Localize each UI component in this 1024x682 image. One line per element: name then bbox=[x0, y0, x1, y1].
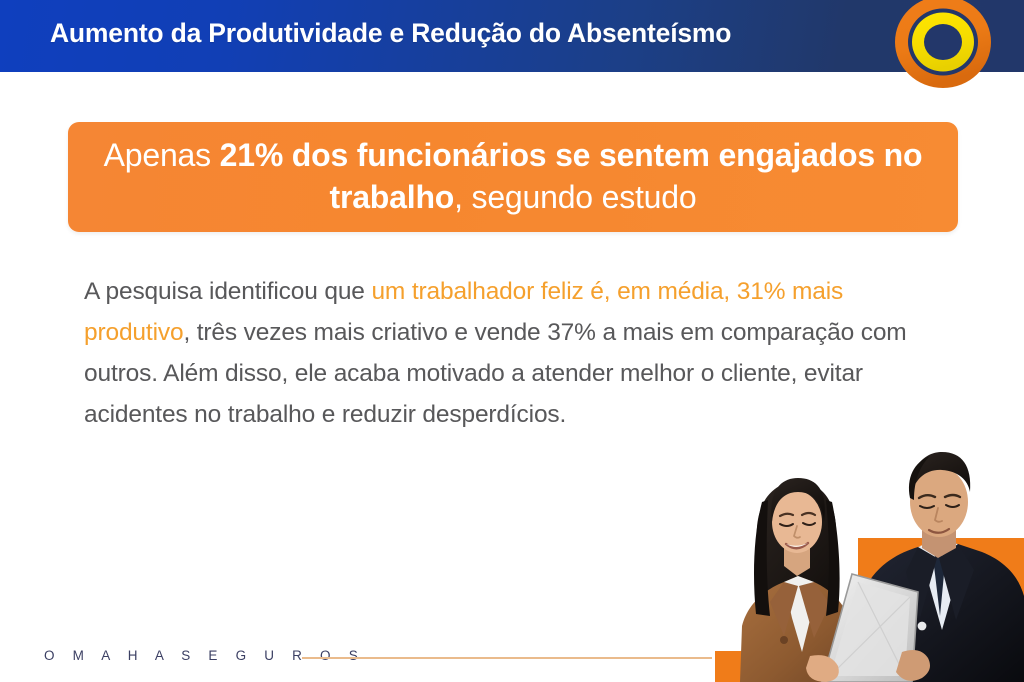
callout-text: Apenas 21% dos funcionários se sentem en… bbox=[94, 135, 932, 219]
slide-canvas: Aumento da Produtividade e Redução do Ab… bbox=[0, 0, 1024, 682]
business-people-photo bbox=[706, 440, 1024, 682]
omaha-concentric-ring-logo-icon bbox=[893, 0, 993, 92]
footer-divider-rule bbox=[302, 657, 712, 659]
body-text-part-2: , três vezes mais criativo e vende 37% a… bbox=[84, 319, 907, 428]
body-paragraph: A pesquisa identificou que um trabalhado… bbox=[84, 272, 929, 436]
page-title: Aumento da Produtividade e Redução do Ab… bbox=[50, 18, 731, 49]
footer-brand-name: O M A H A S E G U R O S bbox=[44, 648, 365, 663]
brand-logo bbox=[893, 0, 993, 92]
callout-lead-text: Apenas bbox=[104, 137, 220, 173]
body-text-part-1: A pesquisa identificou que bbox=[84, 278, 371, 305]
highlight-callout-banner: Apenas 21% dos funcionários se sentem en… bbox=[68, 122, 958, 232]
header-bar: Aumento da Produtividade e Redução do Ab… bbox=[0, 0, 1024, 72]
callout-trail-text: , segundo estudo bbox=[454, 179, 696, 215]
business-people-illustration bbox=[706, 440, 1024, 682]
